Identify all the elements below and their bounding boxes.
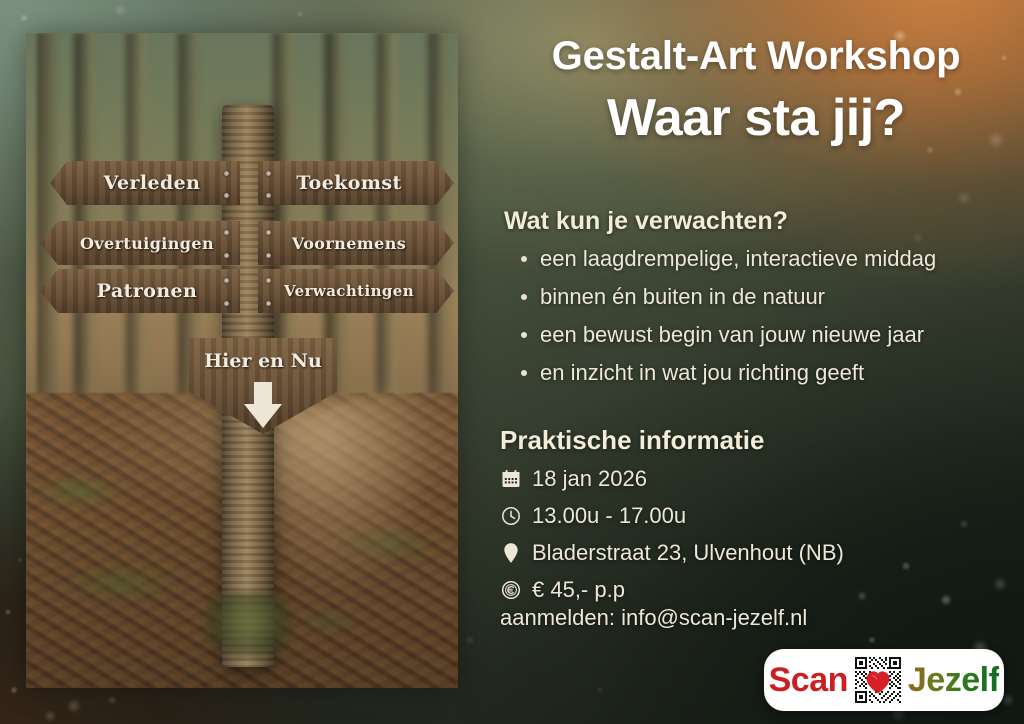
sign-overtuigingen: Overtuigingen: [40, 221, 240, 265]
list-item-time: 13.00u - 17.00u: [500, 502, 980, 530]
sign-label-voornemens: Voornemens: [258, 234, 440, 253]
list-item: binnen én buiten in de natuur: [504, 282, 984, 311]
page-title-line1: Gestalt-Art Workshop: [506, 34, 1006, 79]
list-item: en inzicht in wat jou richting geeft: [504, 358, 984, 387]
list-item: een bewust begin van jouw nieuwe jaar: [504, 320, 984, 349]
coin-euro-icon: [500, 578, 522, 602]
location-pin-icon: [500, 541, 522, 565]
calendar-icon: [500, 467, 522, 491]
location-text: Bladerstraat 23, Ulvenhout (NB): [532, 539, 844, 567]
sign-label-verleden: Verleden: [64, 172, 240, 194]
clock-icon: [500, 504, 522, 528]
sign-verleden: Verleden: [50, 161, 240, 205]
signup-email-text[interactable]: aanmelden: info@scan-jezelf.nl: [500, 605, 807, 631]
scan-jezelf-logo[interactable]: Scan: [764, 649, 1004, 711]
sign-label-toekomst: Toekomst: [258, 172, 440, 194]
logo-word-jezelf: Jezelf: [908, 661, 1000, 700]
expectations-heading: Wat kun je verwachten?: [504, 207, 788, 236]
list-item-date: 18 jan 2026: [500, 465, 980, 493]
content-column: Gestalt-Art Workshop Waar sta jij? Wat k…: [486, 0, 1024, 724]
list-item: een laagdrempelige, interactieve middag: [504, 244, 984, 273]
sign-toekomst: Toekomst: [258, 161, 454, 205]
forest-signpost-photo: Verleden Toekomst Overtuigingen Voorneme…: [26, 33, 458, 688]
time-text: 13.00u - 17.00u: [532, 502, 686, 530]
sign-verwachtingen: Verwachtingen: [258, 269, 454, 313]
poster-canvas: Verleden Toekomst Overtuigingen Voorneme…: [0, 0, 1024, 724]
list-item-price: € 45,- p.p: [500, 576, 980, 604]
sign-label-verwachtingen: Verwachtingen: [258, 282, 440, 300]
expectations-list: een laagdrempelige, interactieve middag …: [504, 244, 984, 396]
sign-label-hier-en-nu: Hier en Nu: [189, 350, 337, 372]
practical-info-heading: Praktische informatie: [500, 425, 764, 456]
list-item-location: Bladerstraat 23, Ulvenhout (NB): [500, 539, 980, 567]
sign-label-overtuigingen: Overtuigingen: [54, 234, 240, 253]
qr-code-icon[interactable]: [854, 656, 902, 704]
sign-voornemens: Voornemens: [258, 221, 454, 265]
date-text: 18 jan 2026: [532, 465, 647, 493]
sign-label-patronen: Patronen: [54, 280, 240, 302]
logo-word-scan: Scan: [769, 661, 848, 700]
price-text: € 45,- p.p: [532, 576, 625, 604]
sign-patronen: Patronen: [40, 269, 240, 313]
signpost-base-moss: [206, 593, 292, 688]
practical-info-list: 18 jan 2026 13.00u - 17.00u Bladerstr: [500, 465, 980, 613]
page-title-line2: Waar sta jij?: [506, 88, 1006, 148]
